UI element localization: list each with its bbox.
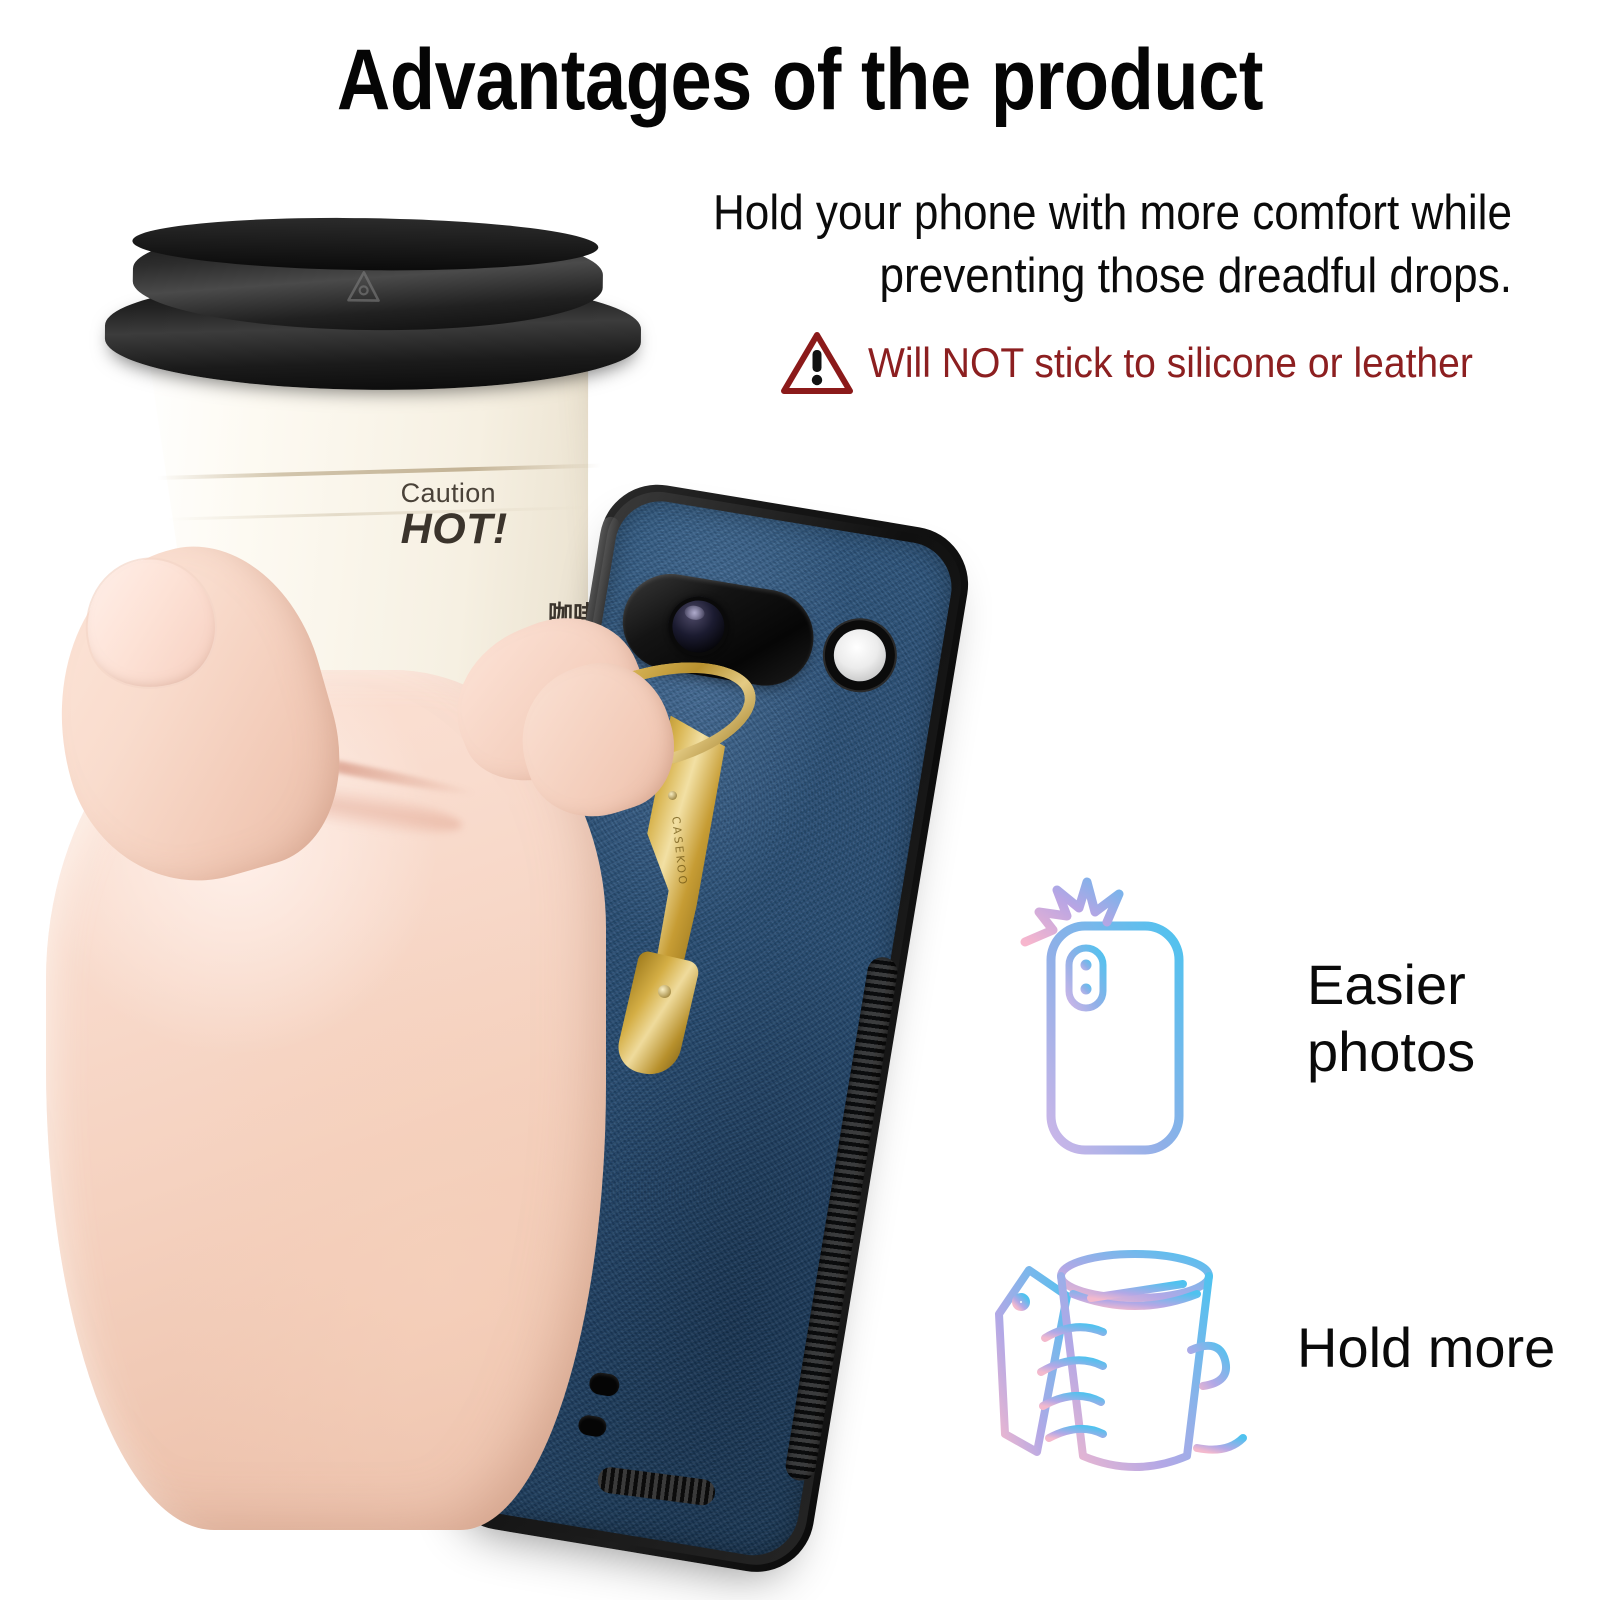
warning-triangle-icon xyxy=(780,330,854,396)
hand-holding-phone-and-cup-icon xyxy=(985,1198,1285,1498)
feature-easier-photos: Easier photos xyxy=(995,868,1585,1168)
warning-notice: Will NOT stick to silicone or leather xyxy=(780,330,1518,396)
feature-label-line-1: Easier xyxy=(1307,951,1475,1018)
feature-label: Hold more xyxy=(1297,1314,1555,1381)
ring-holder[interactable]: CASEKOO xyxy=(540,655,780,1085)
product-advantages-banner: Advantages of the product Hold your phon… xyxy=(0,0,1600,1600)
caution-label: Caution xyxy=(401,480,631,507)
warning-text: Will NOT stick to silicone or leather xyxy=(868,339,1473,387)
feature-hold-more: Hold more xyxy=(985,1198,1585,1498)
feature-label-line-1: Hold more xyxy=(1297,1314,1555,1381)
subtitle-line-1: Hold your phone with more comfort while xyxy=(603,182,1512,245)
feature-label-line-2: photos xyxy=(1307,1018,1475,1085)
camera-lens-icon xyxy=(664,592,733,661)
kickstand-pivot-pin xyxy=(658,985,671,998)
recycle-symbol-icon xyxy=(341,266,386,313)
page-title: Advantages of the product xyxy=(112,34,1488,127)
kickstand-foot xyxy=(613,950,700,1081)
subtitle-line-2: preventing those dreadful drops. xyxy=(603,245,1512,308)
phone-flash-burst-icon xyxy=(995,868,1295,1168)
feature-label: Easier photos xyxy=(1307,951,1475,1085)
ring-hinge-pin xyxy=(668,791,677,800)
page-subtitle: Hold your phone with more comfort while … xyxy=(603,182,1512,307)
